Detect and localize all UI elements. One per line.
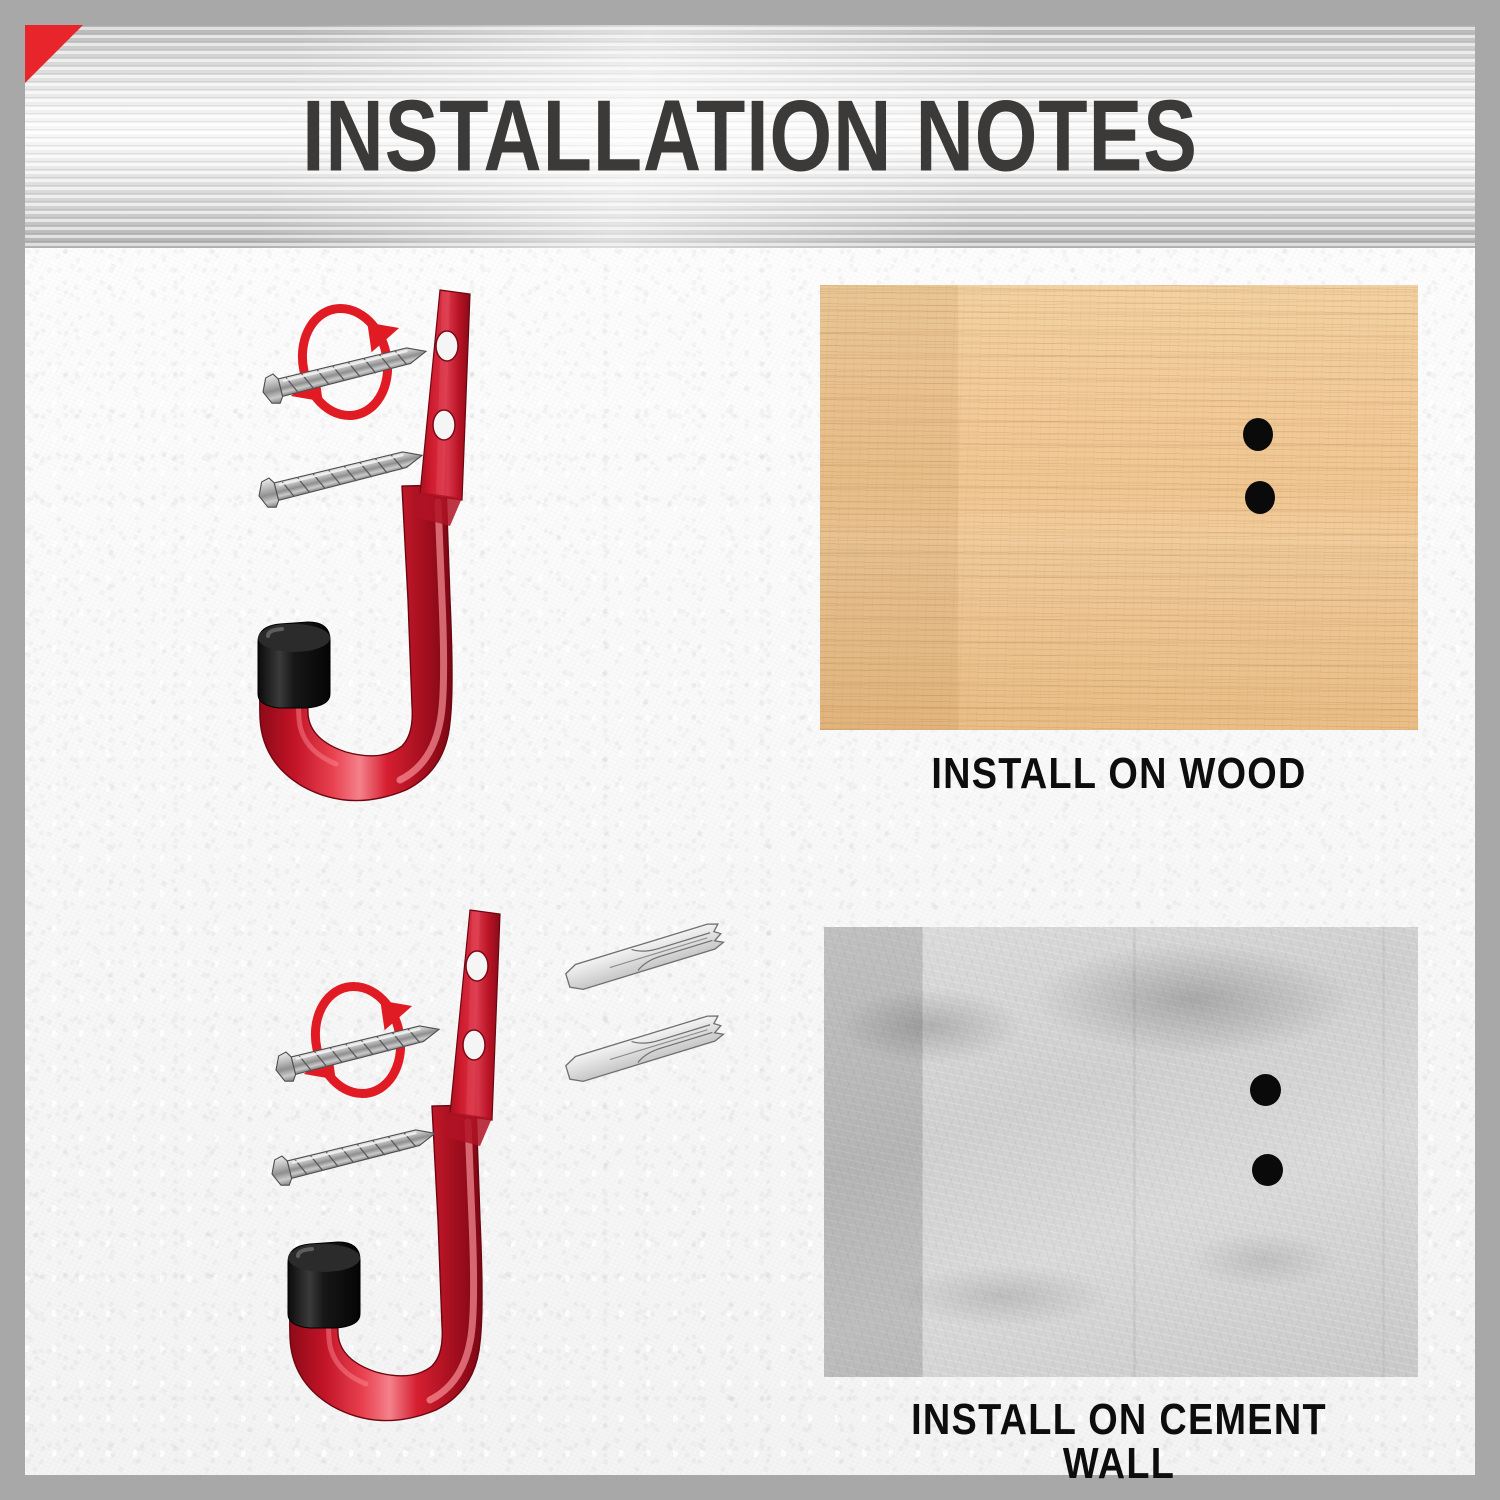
screw-group-cement <box>258 978 528 1228</box>
cement-surface-panel <box>824 927 1418 1377</box>
wood-surface-panel <box>820 285 1418 730</box>
cement-panel-caption: INSTALL ON CEMENT WALL <box>862 1398 1376 1486</box>
plate-hole-top <box>466 951 488 981</box>
header-banner: INSTALLATION NOTES <box>25 25 1475 248</box>
cement-drill-hole-top <box>1250 1074 1281 1106</box>
wood-drill-hole-bottom <box>1245 481 1275 514</box>
screw-group-wood <box>245 300 515 550</box>
screw-bottom <box>255 441 425 511</box>
infographic-page: INSTALLATION NOTES <box>0 0 1500 1500</box>
screw-top <box>259 337 429 407</box>
red-corner-triangle-icon <box>25 25 83 83</box>
wall-anchor-top <box>564 921 725 993</box>
wall-anchor-bottom <box>564 1013 725 1085</box>
screw-top <box>272 1015 442 1085</box>
page-title: INSTALLATION NOTES <box>170 86 1330 187</box>
hook-rubber-tip-icon <box>258 622 330 708</box>
wall-anchor-group <box>552 910 782 1130</box>
wood-drill-hole-top <box>1243 418 1273 451</box>
hook-rubber-tip-icon <box>288 1242 360 1328</box>
wood-panel-caption: INSTALL ON WOOD <box>862 752 1376 796</box>
cement-drill-hole-bottom <box>1252 1154 1283 1186</box>
screw-bottom <box>268 1119 438 1189</box>
